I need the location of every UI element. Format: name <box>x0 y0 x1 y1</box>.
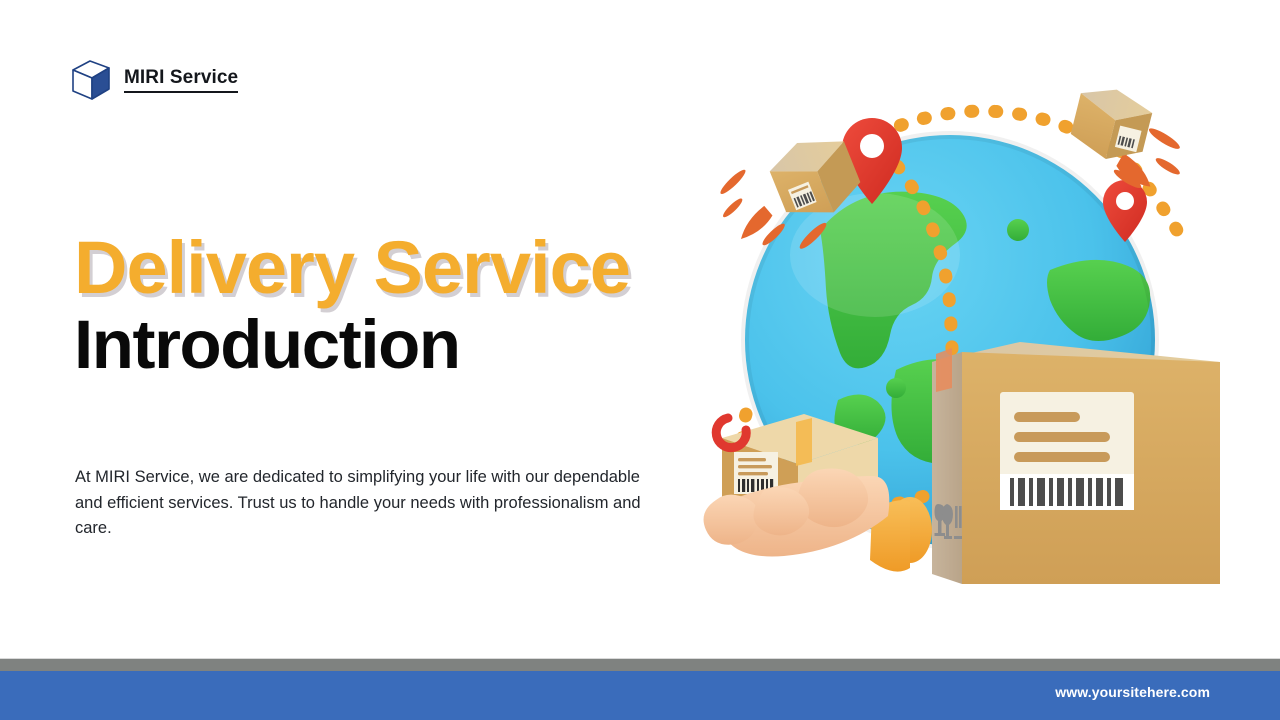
footer-website-url[interactable]: www.yoursitehere.com <box>1055 684 1210 700</box>
large-cardboard-box <box>932 342 1220 584</box>
page-title: Delivery Service Introduction <box>74 232 774 381</box>
footer-grey-bar <box>0 658 1280 671</box>
illustration-svg <box>700 70 1230 615</box>
cube-box-icon <box>70 58 112 102</box>
brand-name: MIRI Service <box>124 67 238 93</box>
headline-line-1: Delivery Service <box>74 232 774 303</box>
body-paragraph: At MIRI Service, we are dedicated to sim… <box>75 465 665 542</box>
headline-line-2: Introduction <box>74 309 774 381</box>
slide-canvas: MIRI Service Delivery Service Introducti… <box>0 0 1280 720</box>
global-delivery-illustration <box>700 70 1230 615</box>
brand-logo-group[interactable]: MIRI Service <box>70 58 238 102</box>
